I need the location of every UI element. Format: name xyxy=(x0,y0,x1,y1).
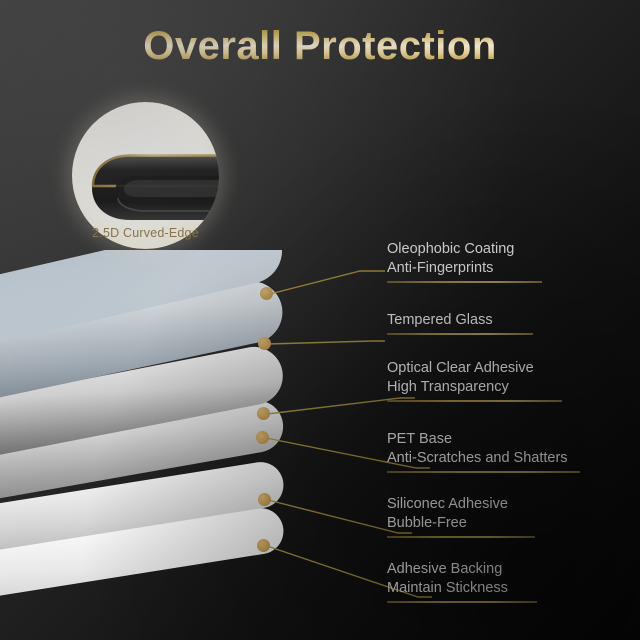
callout-subtitle: Bubble-Free xyxy=(387,514,535,533)
callout-rule xyxy=(387,400,562,402)
callout-subtitle: Maintain Stickness xyxy=(387,579,537,598)
callout-title: Siliconec Adhesive xyxy=(387,495,535,514)
connector-dot-pet-base[interactable] xyxy=(256,431,269,444)
callout-rule xyxy=(387,471,580,473)
layer-stack-illustration xyxy=(0,250,330,600)
callout-title: PET Base xyxy=(387,430,580,449)
product-infographic: Overall Protection xyxy=(0,0,640,640)
connector-dot-optical-clear-adhesive[interactable] xyxy=(257,407,270,420)
callout-subtitle: Anti-Scratches and Shatters xyxy=(387,449,580,468)
inset-caption: 2.5D Curved-Edge xyxy=(72,226,219,240)
callout-rule xyxy=(387,333,533,335)
callout-rule xyxy=(387,281,542,283)
callout-title: Adhesive Backing xyxy=(387,560,537,579)
callout-optical-clear-adhesive: Optical Clear Adhesive High Transparency xyxy=(387,359,562,402)
callout-pet-base: PET Base Anti-Scratches and Shatters xyxy=(387,430,580,473)
curved-edge-phone-icon xyxy=(90,154,219,222)
connector-dot-siliconec-adhesive[interactable] xyxy=(258,493,271,506)
callout-oleophobic-coating: Oleophobic Coating Anti-Fingerprints xyxy=(387,240,542,283)
callout-title: Optical Clear Adhesive xyxy=(387,359,562,378)
callout-subtitle: High Transparency xyxy=(387,378,562,397)
callout-rule xyxy=(387,536,535,538)
callout-adhesive-backing: Adhesive Backing Maintain Stickness xyxy=(387,560,537,603)
connector-dot-oleophobic-coating[interactable] xyxy=(260,287,273,300)
callout-title: Oleophobic Coating xyxy=(387,240,542,259)
callout-title: Tempered Glass xyxy=(387,311,533,330)
connector-dot-adhesive-backing[interactable] xyxy=(257,539,270,552)
callout-rule xyxy=(387,601,537,603)
page-title: Overall Protection xyxy=(0,24,640,69)
callout-subtitle: Anti-Fingerprints xyxy=(387,259,542,278)
callout-siliconec-adhesive: Siliconec Adhesive Bubble-Free xyxy=(387,495,535,538)
connector-dot-tempered-glass[interactable] xyxy=(258,337,271,350)
callout-tempered-glass: Tempered Glass xyxy=(387,311,533,335)
